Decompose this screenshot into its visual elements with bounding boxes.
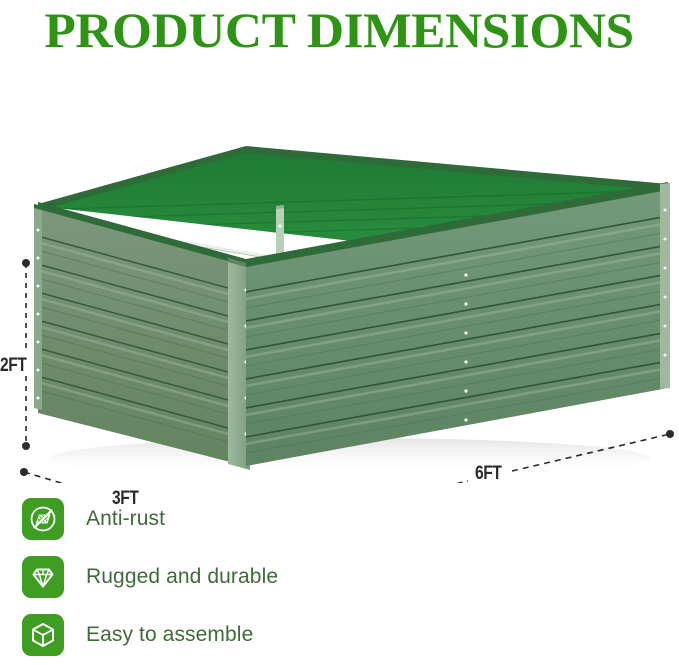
assembly-box-icon (22, 614, 64, 656)
anti-rust-icon (22, 498, 64, 540)
raised-garden-bed-diagram (0, 58, 679, 483)
feature-label-easy-assemble: Easy to assemble (86, 623, 253, 647)
page-title: PRODUCT DIMENSIONS (45, 4, 634, 56)
product-illustration: 2FT 3FT 6FT (0, 58, 679, 483)
feature-item-rugged-durable: Rugged and durable (22, 548, 442, 606)
feature-label-rugged-durable: Rugged and durable (86, 565, 278, 589)
feature-item-anti-rust: Anti-rust (22, 490, 442, 548)
dimension-label-height: 2FT (0, 355, 26, 377)
feature-list: Anti-rust Rugged and durable (22, 490, 442, 664)
diamond-durable-icon (22, 556, 64, 598)
title-bar: PRODUCT DIMENSIONS (0, 0, 679, 60)
dimension-label-length: 6FT (475, 463, 501, 485)
feature-label-anti-rust: Anti-rust (86, 507, 165, 531)
feature-item-easy-assemble: Easy to assemble (22, 606, 442, 664)
